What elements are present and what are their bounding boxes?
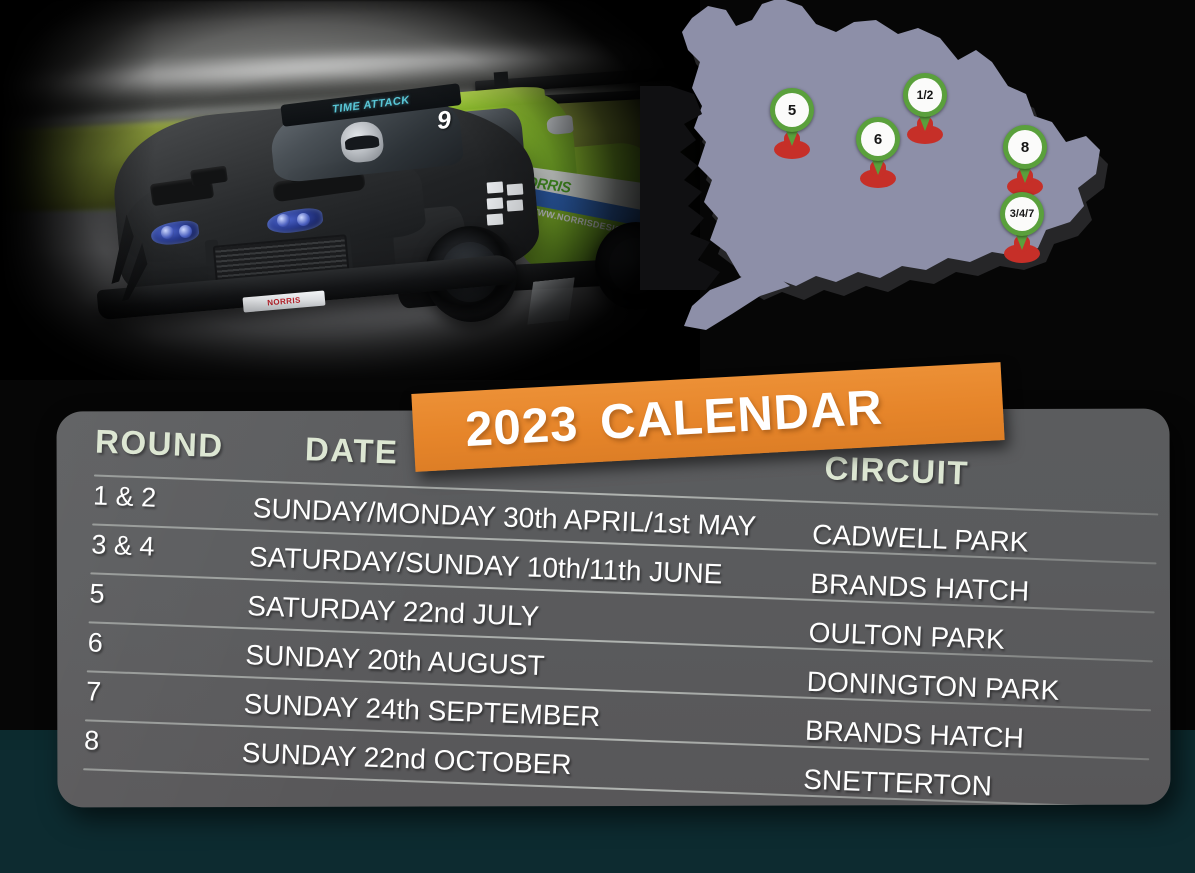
map-pin-donington-park[interactable]: 6 [856, 117, 900, 179]
pin-head: 6 [856, 117, 900, 161]
sponsor-decal-1 [487, 181, 504, 193]
pin-head: 5 [770, 88, 814, 132]
poster-canvas: NORRIS WWW.NORRISDESIGNS.COM TIME ATTACK [0, 0, 1195, 873]
pin-head: 3/4/7 [1000, 192, 1044, 236]
cell-round: 7 [85, 676, 101, 708]
cell-round: 5 [89, 578, 105, 610]
cell-date: SATURDAY 22nd JULY [247, 590, 540, 633]
cell-round: 3 & 4 [91, 529, 155, 562]
cell-date: SATURDAY/SUNDAY 10th/11th JUNE [248, 541, 722, 590]
cell-date: SUNDAY 22nd OCTOBER [241, 737, 572, 781]
pin-label: 6 [861, 122, 895, 156]
race-car-photo: NORRIS WWW.NORRISDESIGNS.COM TIME ATTACK [0, 0, 700, 380]
pin-head: 8 [1003, 125, 1047, 169]
uk-map: 5 1/2 6 8 3/ [640, 0, 1180, 340]
cell-round: 8 [84, 725, 100, 757]
pin-label: 5 [775, 93, 809, 127]
pin-head: 1/2 [903, 73, 947, 117]
sponsor-decal-2 [487, 197, 504, 209]
map-pin-snetterton[interactable]: 8 [1003, 125, 1047, 187]
sponsor-decal-4 [507, 183, 524, 195]
cell-date: SUNDAY 20th AUGUST [245, 639, 545, 682]
wing-mirror [546, 115, 574, 136]
column-header-round: ROUND [95, 422, 225, 465]
banner-word: CALENDAR [599, 381, 884, 450]
uk-map-svg [640, 0, 1180, 340]
column-header-circuit: CIRCUIT [824, 449, 970, 492]
sponsor-decal-3 [487, 213, 504, 225]
map-pin-oulton-park[interactable]: 5 [770, 88, 814, 150]
column-header-date: DATE [304, 430, 399, 471]
calendar-banner-text: 2023CALENDAR [464, 380, 884, 459]
cell-round: 1 & 2 [93, 480, 157, 513]
pin-label: 8 [1008, 130, 1042, 164]
car-number: 9 [436, 105, 462, 135]
cell-date: SUNDAY/MONDAY 30th APRIL/1st MAY [252, 492, 756, 542]
race-car: NORRIS WWW.NORRISDESIGNS.COM TIME ATTACK [95, 50, 675, 340]
pin-label: 1/2 [908, 78, 942, 112]
headlight-projector-3 [277, 214, 290, 227]
pin-label: 3/4/7 [1005, 197, 1039, 231]
headlight-projector-2 [179, 225, 192, 238]
headlight-projector-4 [297, 213, 310, 226]
sponsor-decal-5 [507, 199, 524, 211]
cell-round: 6 [87, 627, 103, 659]
map-pin-brands-hatch[interactable]: 3/4/7 [1000, 192, 1044, 254]
schedule-panel: ROUND DATE CIRCUIT 1 & 2 SUNDAY/MONDAY 3… [56, 409, 1170, 808]
map-pin-cadwell-park[interactable]: 1/2 [903, 73, 947, 135]
schedule-table: ROUND DATE CIRCUIT 1 & 2 SUNDAY/MONDAY 3… [56, 409, 1170, 808]
banner-year: 2023 [464, 397, 580, 457]
headlight-projector-1 [161, 226, 174, 239]
